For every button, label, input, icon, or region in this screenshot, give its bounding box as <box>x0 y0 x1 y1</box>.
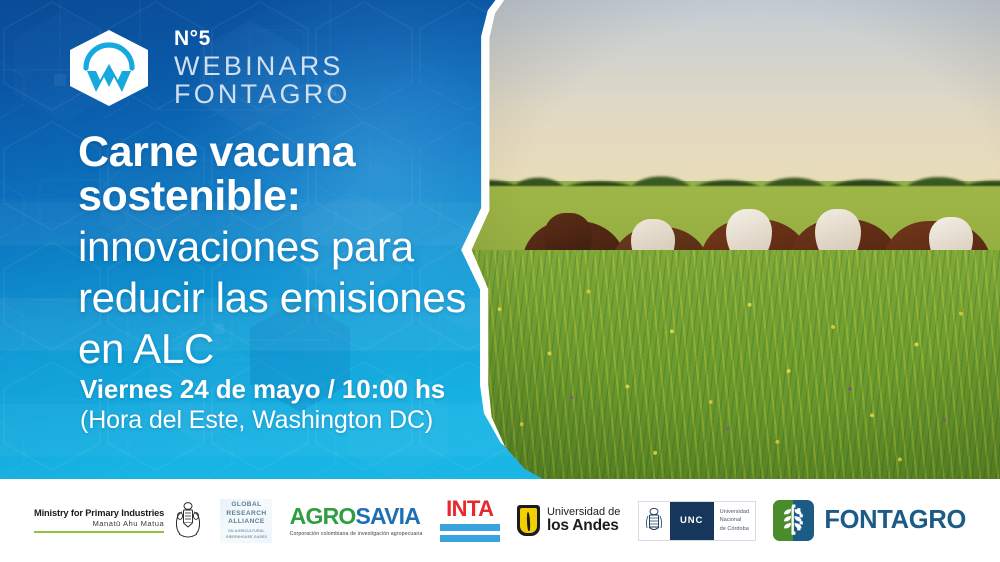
inta-bar-upper <box>440 524 500 531</box>
agrosavia-tagline: Corporación colombiana de investigación … <box>290 531 423 537</box>
unc-crest-icon <box>639 502 670 540</box>
brand-word-webinars: WEBINARS <box>174 52 351 80</box>
inta-wordmark: INTA <box>440 499 500 520</box>
mpi-line-1: Ministry for Primary Industries <box>34 508 164 518</box>
schedule-timezone: (Hora del Este, Washington DC) <box>80 405 550 435</box>
mpi-line-2: Manatū Ahu Matua <box>34 519 164 528</box>
webinar-poster: N°5 WEBINARS FONTAGRO Carne vacuna soste… <box>0 0 1000 562</box>
unc-line-3: de Córdoba <box>720 525 750 533</box>
partner-logo-inta: INTA <box>440 499 500 542</box>
gra-line-2: RESEARCH <box>226 510 266 518</box>
gra-line-1: GLOBAL <box>231 501 261 509</box>
unc-acronym: UNC <box>670 502 714 540</box>
partner-logo-universidad-nacional-de-cordoba: UNC Universidad Nacional de Córdoba <box>638 501 757 541</box>
agrosavia-word-part-2: SAVIA <box>355 503 420 529</box>
uniandes-line-2: los Andes <box>547 518 620 534</box>
headline-light-line-3: en ALC <box>78 325 538 372</box>
partner-logo-ministry-for-primary-industries: Ministry for Primary Industries Manatū A… <box>34 500 203 542</box>
partner-logo-agrosavia: AGROSAVIA Corporación colombiana de inve… <box>290 505 423 537</box>
schedule-date-time: Viernes 24 de mayo / 10:00 hs <box>80 374 550 405</box>
mpi-text: Ministry for Primary Industries Manatū A… <box>34 508 164 533</box>
agrosavia-word-part-1: AGRO <box>290 503 356 529</box>
fontagro-wordmark: FONTAGRO <box>824 506 966 535</box>
headline-bold-line-1: Carne vacuna <box>78 131 538 175</box>
gra-sub-2: GREENHOUSE GASES <box>226 535 267 540</box>
agrosavia-wordmark: AGROSAVIA <box>290 505 420 528</box>
headline-light-line-2: reducir las emisiones <box>78 274 538 321</box>
partner-logo-universidad-de-los-andes: Universidad de los Andes <box>517 505 620 536</box>
headline-light-line-1: innovaciones para <box>78 223 538 270</box>
uniandes-shield-icon <box>517 505 540 536</box>
unc-line-1: Universidad <box>720 508 750 516</box>
brand-text: N°5 WEBINARS FONTAGRO <box>174 28 351 109</box>
hexagon-w-icon <box>66 28 152 108</box>
partner-logo-fontagro: FONTAGRO <box>773 500 966 541</box>
partner-logo-bar: Ministry for Primary Industries Manatū A… <box>0 479 1000 562</box>
gra-sub-1: ON AGRICULTURAL <box>228 529 265 534</box>
headline-bold-line-2: sostenible: <box>78 175 538 219</box>
brand-word-fontagro: FONTAGRO <box>174 80 351 108</box>
uniandes-text: Universidad de los Andes <box>547 507 620 535</box>
schedule-block: Viernes 24 de mayo / 10:00 hs (Hora del … <box>80 374 550 435</box>
nz-coat-of-arms-icon <box>173 500 203 542</box>
unc-line-2: Nacional <box>720 516 750 524</box>
fontagro-wheat-gear-icon <box>773 500 814 541</box>
unc-text: Universidad Nacional de Córdoba <box>714 508 756 532</box>
partner-logo-list: Ministry for Primary Industries Manatū A… <box>0 499 1000 543</box>
gra-line-3: ALLIANCE <box>228 518 265 526</box>
inta-bar-lower <box>440 535 500 542</box>
edition-number: N°5 <box>174 28 351 49</box>
partner-logo-global-research-alliance: GLOBAL RESEARCH ALLIANCE ON AGRICULTURAL… <box>220 499 272 543</box>
mpi-green-rule <box>34 531 164 533</box>
headline-block: Carne vacuna sostenible: innovaciones pa… <box>78 131 538 372</box>
brand-lockup: N°5 WEBINARS FONTAGRO <box>66 28 366 110</box>
